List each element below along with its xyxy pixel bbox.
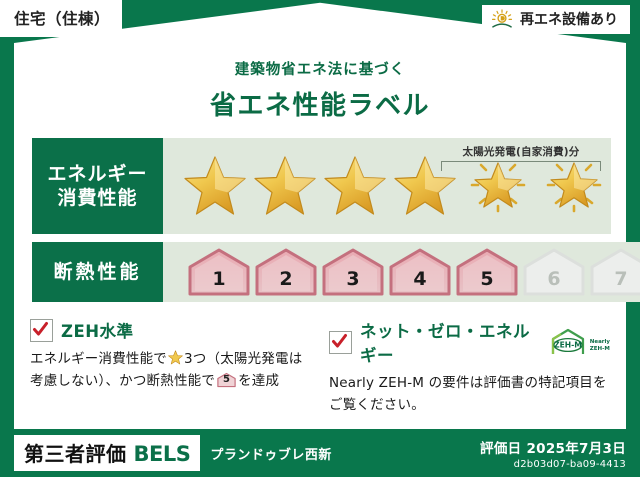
energy-performance-row: エネルギー 消費性能 [32,138,608,234]
insulation-level-6: 6 [522,247,586,297]
footer-meta: 評価日 2025年7月3日 d2b03d07-ba09-4413 [480,437,626,470]
note-zeh-standard-body: エネルギー消費性能で3つ（太陽光発電は考慮しない）、かつ断熱性能で5を達成 [30,349,311,393]
note-zeh-body-part1: エネルギー消費性能で [30,351,167,367]
star-filled-2 [251,150,319,222]
bels-en-label: BELS [134,442,191,466]
building-name: プランドゥブレ西新 [210,444,332,463]
note-zeh-standard-title: ZEH水準 [61,318,134,342]
insulation-level-4: 4 [388,247,452,297]
zeh-m-sub-line2: ZEH-M [590,346,610,352]
zeh-m-badge: ZEH-M Nearly ZEH-M [548,328,610,356]
footer-bar: 第三者評価 BELS プランドゥブレ西新 評価日 2025年7月3日 d2b03… [0,429,640,477]
insulation-level-2-label: 2 [254,268,318,290]
evaluation-date-value: 2025年7月3日 [526,441,626,457]
star-filled-3 [321,150,389,222]
star-solar-6 [537,150,611,222]
insulation-level-7-label: 7 [589,268,640,290]
note-zeh-standard-header: ZEH水準 [30,318,311,342]
insulation-level-7: 7 [589,247,640,297]
house-type-tag: 住宅（住棟） [0,0,122,37]
insulation-performance-caption: 断熱性能 [32,242,163,302]
energy-label-card: 住宅（住棟） 再エネ設備あり 建築物省エネ法に基づく 省エネ性能ラベル [0,0,640,477]
renewable-equipment-label: 再エネ設備あり [520,9,618,29]
star-icon [168,350,183,365]
insulation-level-5: 5 [455,247,519,297]
insulation-performance-row: 断熱性能 1 2 [32,242,608,302]
insulation-level-3: 3 [321,247,385,297]
insulation-performance-body: 1 2 3 [163,242,640,302]
note-net-zero-title: ネット・ゼロ・エネルギー [360,318,540,366]
evaluation-id: d2b03d07-ba09-4413 [480,459,626,470]
page-title: 省エネ性能ラベル [0,85,640,122]
insulation-level-6-label: 6 [522,268,586,290]
notes-section: ZEH水準 エネルギー消費性能で3つ（太陽光発電は考慮しない）、かつ断熱性能で5… [30,318,610,417]
evaluation-date-label: 評価日 [480,441,521,457]
star-filled-4 [391,150,459,222]
star-rating [163,150,611,222]
title-block: 建築物省エネ法に基づく 省エネ性能ラベル [0,58,640,122]
bels-badge: 第三者評価 BELS [14,435,200,471]
star-filled-1 [181,150,249,222]
insulation-level-4-label: 4 [388,268,452,290]
house-level-badge-label: 5 [217,372,236,388]
bels-jp-label: 第三者評価 [24,438,127,467]
star-solar-5 [461,150,535,222]
zeh-m-badge-sub: Nearly ZEH-M [590,339,610,356]
insulation-level-2: 2 [254,247,318,297]
note-net-zero-energy: ネット・ゼロ・エネルギー ZEH-M Nearly ZEH-M Nearly Z… [329,318,610,417]
checkbox-checked-icon [329,331,352,354]
energy-caption-line2: 消費性能 [57,187,137,209]
title-subtitle: 建築物省エネ法に基づく [0,58,640,79]
house-level-badge-icon: 5 [217,372,236,388]
energy-performance-caption: エネルギー 消費性能 [32,138,163,234]
insulation-level-scale: 1 2 3 [163,247,640,297]
evaluation-date: 評価日 2025年7月3日 [480,437,626,457]
zeh-m-house-icon: ZEH-M [548,328,588,356]
renewable-equipment-tag: 再エネ設備あり [482,5,630,34]
note-zeh-standard: ZEH水準 エネルギー消費性能で3つ（太陽光発電は考慮しない）、かつ断熱性能で5… [30,318,311,417]
zeh-m-sub-line1: Nearly [590,339,610,345]
insulation-level-1-label: 1 [187,268,251,290]
energy-caption-line1: エネルギー [47,163,147,185]
insulation-level-5-label: 5 [455,268,519,290]
note-net-zero-body: Nearly ZEH-M の要件は評価書の特記項目をご覧ください。 [329,373,610,417]
insulation-level-1: 1 [187,247,251,297]
note-zeh-body-part3: を達成 [238,373,279,389]
checkbox-checked-icon [30,319,53,342]
energy-performance-body: 太陽光発電(自家消費)分 [163,138,611,234]
sun-icon [490,9,514,29]
note-net-zero-header: ネット・ゼロ・エネルギー ZEH-M Nearly ZEH-M [329,318,610,366]
insulation-level-3-label: 3 [321,268,385,290]
zeh-m-badge-text: ZEH-M [554,341,582,350]
